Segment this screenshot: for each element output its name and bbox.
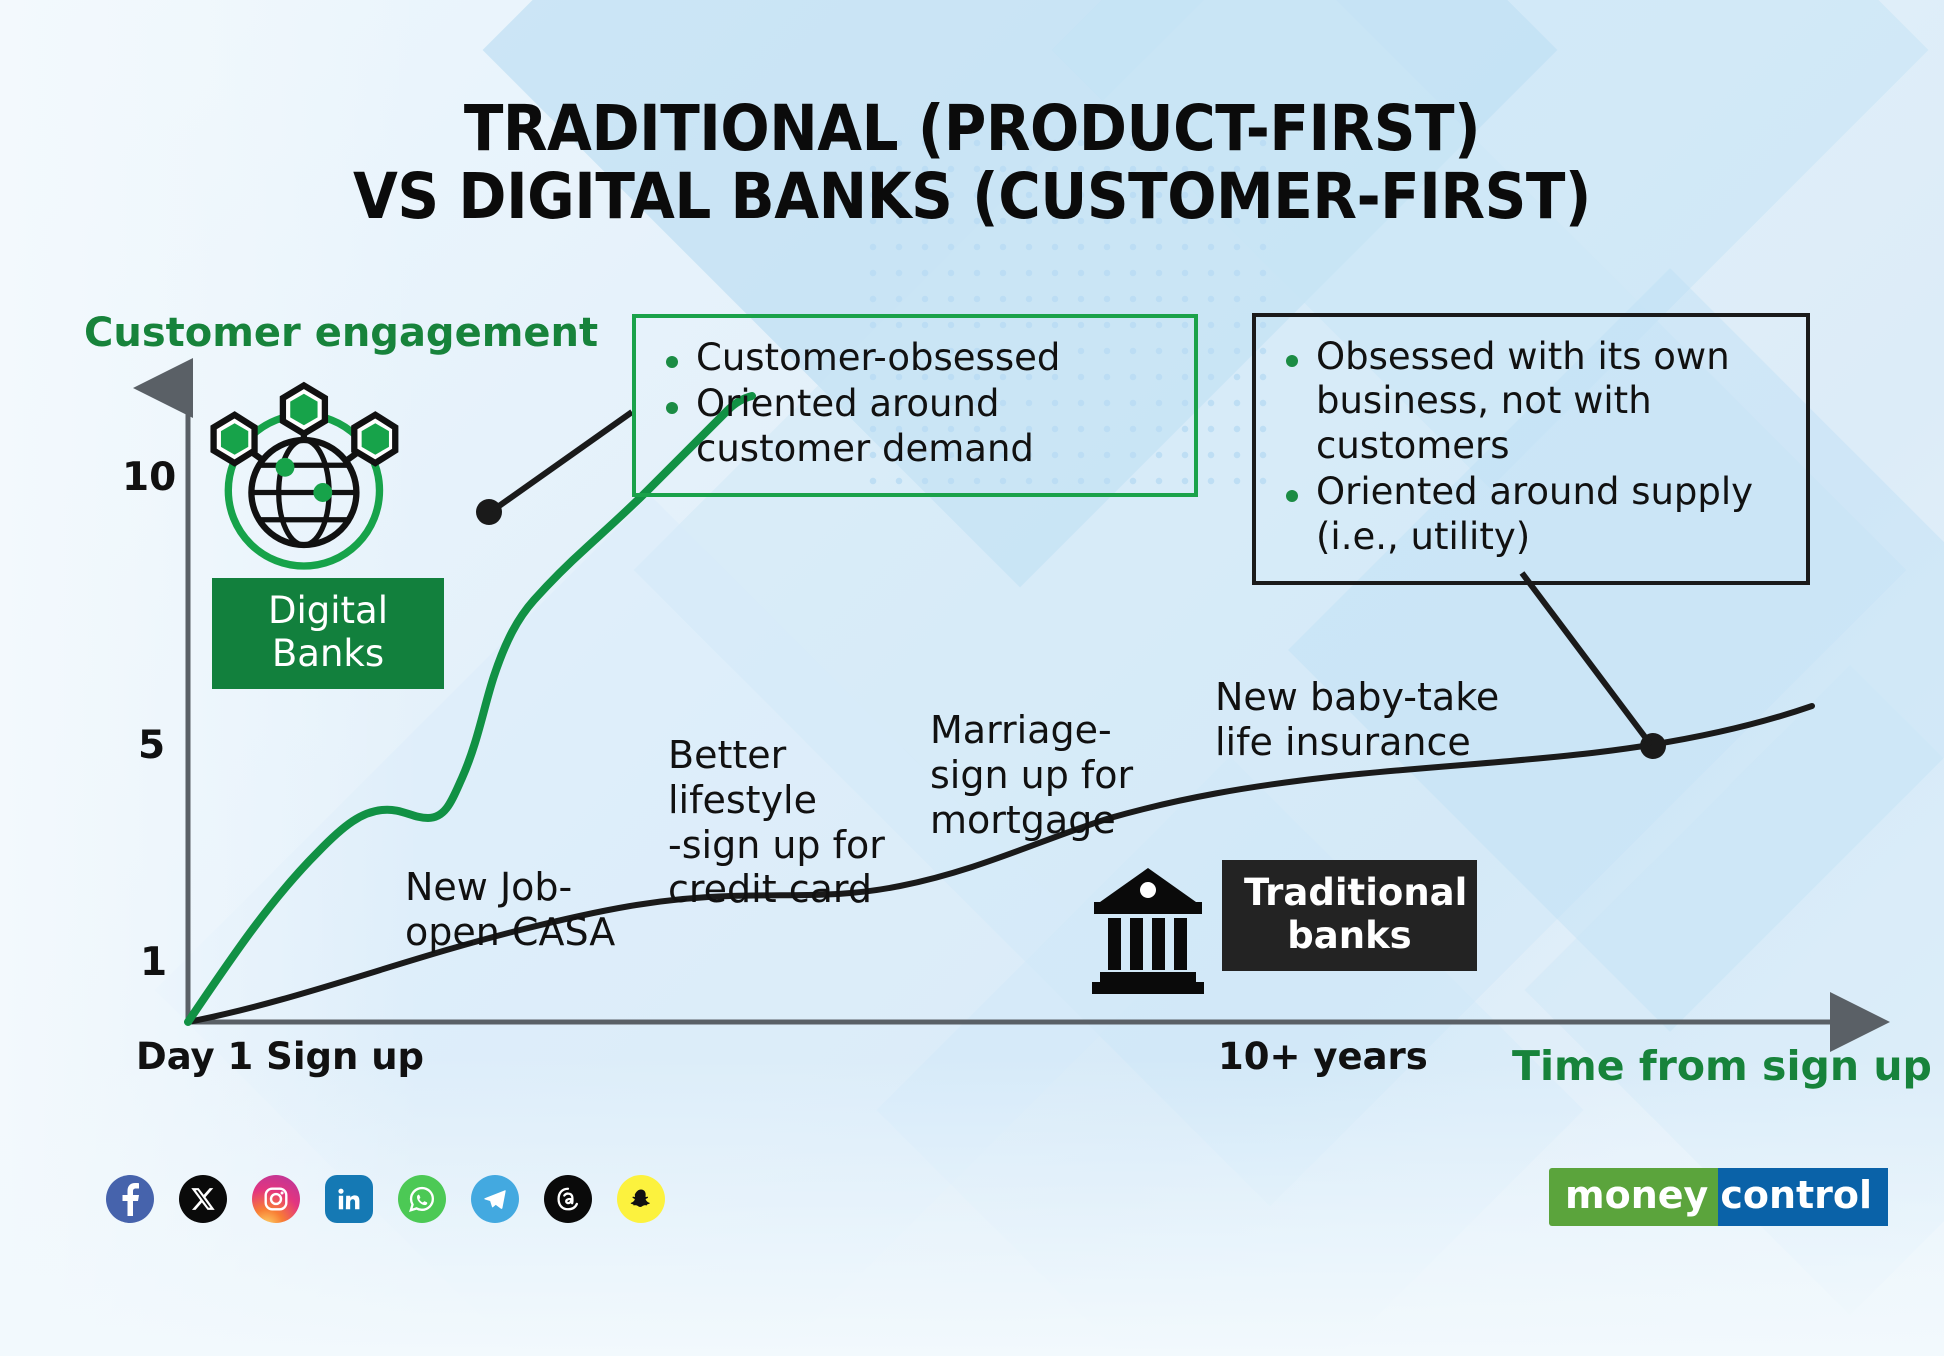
social-links-bar — [106, 1175, 665, 1223]
traditional-banks-badge-line-1: Traditional — [1244, 872, 1455, 915]
y-tick-10: 10 — [122, 455, 176, 500]
x-twitter-icon[interactable] — [179, 1175, 227, 1223]
digital-banks-badge: Digital Banks — [212, 578, 444, 689]
digital-curve-marker — [476, 499, 502, 525]
x-axis-title: Time from sign up — [1512, 1042, 1932, 1090]
infographic-canvas: TRADITIONAL (PRODUCT-FIRST) VS DIGITAL B… — [0, 0, 1944, 1356]
annotation-new-job-line-2: open CASA — [405, 910, 615, 955]
moneycontrol-logo-control: control — [1718, 1168, 1888, 1226]
annotation-credit-card-line-3: -sign up for — [668, 823, 885, 868]
annotation-credit-card-line-1: Better — [668, 733, 885, 778]
y-tick-1: 1 — [140, 940, 167, 985]
traditional-banks-callout: Obsessed with its own business, not with… — [1252, 313, 1810, 585]
snapchat-icon[interactable] — [617, 1175, 665, 1223]
annotation-life-insurance-line-1: New baby-take — [1215, 675, 1499, 720]
digital-callout-leader-line — [492, 412, 632, 511]
page-title: TRADITIONAL (PRODUCT-FIRST) VS DIGITAL B… — [78, 95, 1866, 231]
digital-banks-callout-bullet: Oriented around customer demand — [654, 382, 1174, 471]
annotation-mortgage-line-1: Marriage- — [930, 708, 1133, 753]
annotation-mortgage-line-3: mortgage — [930, 798, 1133, 843]
annotation-mortgage: Marriage- sign up for mortgage — [930, 708, 1133, 842]
annotation-credit-card: Better lifestyle -sign up for credit car… — [668, 733, 885, 912]
instagram-icon[interactable] — [252, 1175, 300, 1223]
digital-banks-badge-line-1: Digital — [234, 590, 422, 633]
x-axis-end-label: 10+ years — [1218, 1035, 1428, 1078]
threads-icon[interactable] — [544, 1175, 592, 1223]
x-axis-start-label: Day 1 Sign up — [136, 1035, 424, 1078]
y-tick-5: 5 — [138, 723, 165, 768]
linkedin-icon[interactable] — [325, 1175, 373, 1223]
moneycontrol-logo[interactable]: money control — [1549, 1168, 1888, 1226]
annotation-mortgage-line-2: sign up for — [930, 753, 1133, 798]
digital-banks-callout: Customer-obsessed Oriented around custom… — [632, 314, 1198, 497]
y-axis-title: Customer engagement — [84, 310, 598, 356]
annotation-new-job: New Job- open CASA — [405, 865, 615, 955]
annotation-life-insurance-line-2: life insurance — [1215, 720, 1499, 765]
digital-banks-callout-list: Customer-obsessed Oriented around custom… — [654, 336, 1174, 471]
traditional-banks-callout-list: Obsessed with its own business, not with… — [1274, 335, 1786, 559]
traditional-banks-badge: Traditional banks — [1222, 860, 1477, 971]
annotation-credit-card-line-4: credit card — [668, 867, 885, 912]
digital-banks-badge-line-2: Banks — [234, 633, 422, 676]
traditional-callout-leader-line — [1522, 573, 1651, 745]
digital-banks-callout-bullet: Customer-obsessed — [654, 336, 1174, 380]
annotation-credit-card-line-2: lifestyle — [668, 778, 885, 823]
telegram-icon[interactable] — [471, 1175, 519, 1223]
title-line-2: VS DIGITAL BANKS (CUSTOMER-FIRST) — [78, 163, 1866, 231]
traditional-banks-badge-line-2: banks — [1244, 915, 1455, 958]
facebook-icon[interactable] — [106, 1175, 154, 1223]
moneycontrol-logo-money: money — [1549, 1168, 1718, 1226]
title-line-1: TRADITIONAL (PRODUCT-FIRST) — [464, 92, 1480, 165]
annotation-new-job-line-1: New Job- — [405, 865, 615, 910]
traditional-banks-callout-bullet: Oriented around supply (i.e., utility) — [1274, 470, 1786, 559]
traditional-banks-callout-bullet: Obsessed with its own business, not with… — [1274, 335, 1786, 468]
annotation-life-insurance: New baby-take life insurance — [1215, 675, 1499, 765]
whatsapp-icon[interactable] — [398, 1175, 446, 1223]
